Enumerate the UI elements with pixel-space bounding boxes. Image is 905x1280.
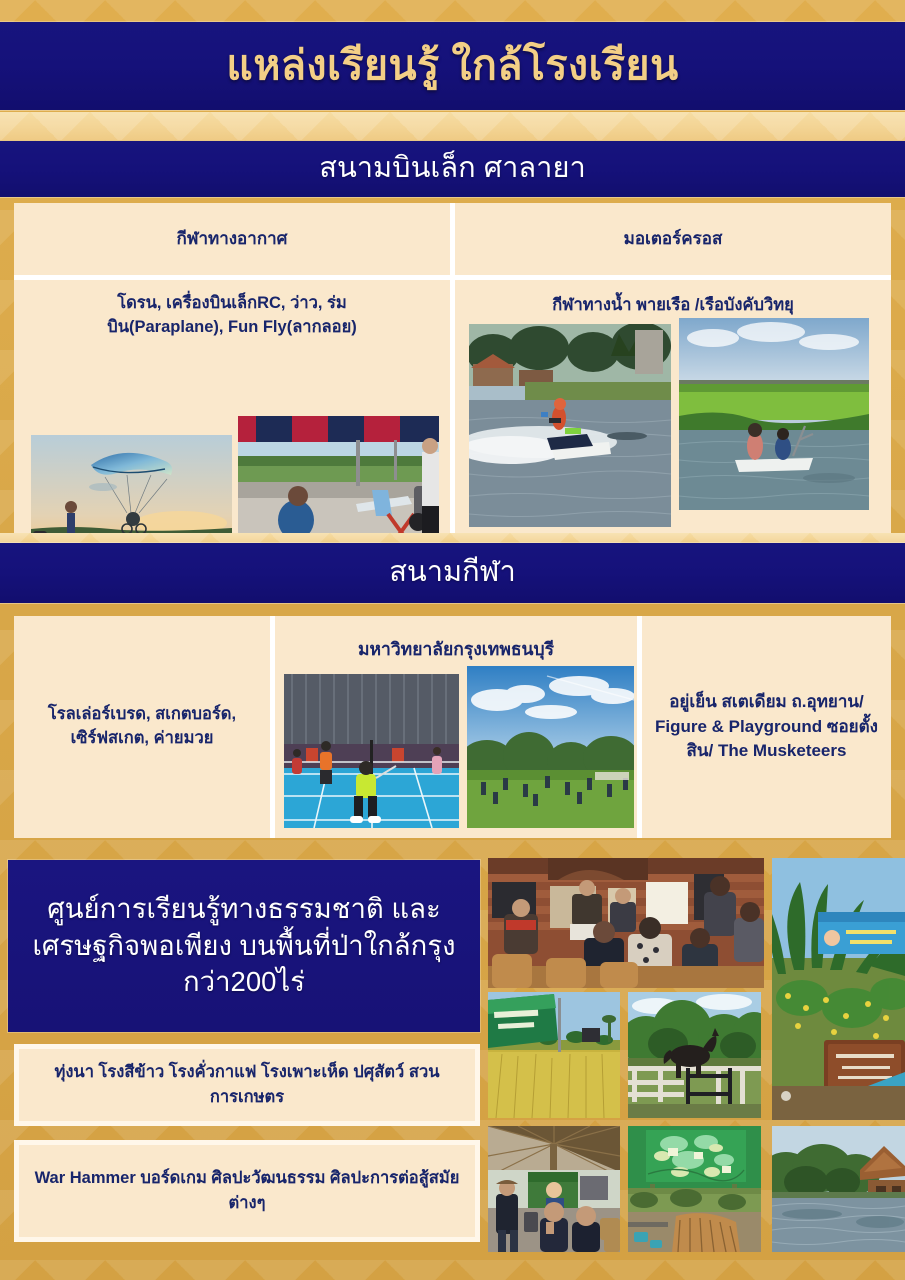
airfield-left-header-label: กีฬาทางอากาศ: [177, 228, 288, 251]
gold-divider-band-2: [0, 533, 905, 543]
poster-root: แหล่งเรียนรู้ ใกล้โรงเรียน สนามบินเล็ก ศ…: [0, 0, 905, 1280]
pavilion-meeting-photo: [488, 1126, 620, 1252]
airfield-card-grid: กีฬาทางอากาศ มอเตอร์ครอส โดรน, เครื่องบิ…: [14, 203, 891, 533]
nature-info-box-1: ทุ่งนา โรงสีข้าว โรงคั่วกาแฟ โรงเพาะเห็ด…: [14, 1044, 480, 1126]
jetski-photo: [469, 324, 671, 527]
sports-mid-cell: มหาวิทยาลัยกรุงเทพธนบุรี: [275, 616, 637, 838]
paddle-boat-photo: [679, 318, 869, 510]
gold-divider-band-1: [0, 112, 905, 140]
section-header-airfield: สนามบินเล็ก ศาลายา: [0, 141, 905, 197]
airfield-right-header-cell: มอเตอร์ครอส: [455, 203, 891, 275]
nature-callout: ศูนย์การเรียนรู้ทางธรรมชาติ และเศรษฐกิจพ…: [8, 860, 480, 1032]
nature-info-box-1-text: ทุ่งนา โรงสีข้าว โรงคั่วกาแฟ โรงเพาะเห็ด…: [33, 1060, 461, 1110]
cafe-workshop-photo: [488, 858, 764, 988]
horse-paddock-photo: [628, 992, 761, 1118]
sports-left-cell: โรลเล่อร์เบรด, สเกตบอร์ด, เซิร์ฟสเกต, ค่…: [14, 616, 270, 838]
section-header-sports: สนามกีฬา: [0, 543, 905, 603]
riverside-hut-photo: [772, 1126, 905, 1252]
nature-callout-text: ศูนย์การเรียนรู้ทางธรรมชาติ และเศรษฐกิจพ…: [18, 891, 470, 1001]
airfield-left-body-cell: โดรน, เครื่องบินเล็กRC, ว่าว, ร่มบิน(Par…: [14, 280, 450, 533]
poster-title-bar: แหล่งเรียนรู้ ใกล้โรงเรียน: [0, 22, 905, 110]
park-map-board-photo: [628, 1126, 761, 1252]
airfield-right-body-cell: กีฬาทางน้ำ พายเรือ /เรือบังคับวิทยุ: [455, 280, 891, 533]
page-title: แหล่งเรียนรู้ ใกล้โรงเรียน: [226, 43, 678, 88]
airfield-left-body-text: โดรน, เครื่องบินเล็กRC, ว่าว, ร่มบิน(Par…: [60, 292, 404, 340]
nature-info-box-2: War Hammer บอร์ดเกม ศิลปะวัฒนธรรม ศิลปะก…: [14, 1140, 480, 1242]
badminton-court-photo: [284, 674, 459, 828]
sports-right-cell: อยู่เย็น สเตเดียม ถ.อุทยาน/ Figure & Pla…: [642, 616, 891, 838]
section-header-sports-label: สนามกีฬา: [389, 557, 516, 589]
sports-right-text: อยู่เย็น สเตเดียม ถ.อุทยาน/ Figure & Pla…: [650, 690, 883, 764]
airfield-right-header-label: มอเตอร์ครอส: [624, 228, 723, 251]
airfield-left-header-cell: กีฬาทางอากาศ: [14, 203, 450, 275]
sports-field-photo: [467, 666, 634, 828]
nature-info-box-2-text: War Hammer บอร์ดเกม ศิลปะวัฒนธรรม ศิลปะก…: [33, 1166, 461, 1216]
rice-field-banner-photo: [488, 992, 620, 1118]
sports-mid-header-label: มหาวิทยาลัยกรุงเทพธนบุรี: [358, 638, 554, 662]
sports-card-grid: โรลเล่อร์เบรด, สเกตบอร์ด, เซิร์ฟสเกต, ค่…: [14, 616, 891, 838]
section-header-airfield-label: สนามบินเล็ก ศาลายา: [319, 153, 585, 185]
airfield-right-body-text: กีฬาทางน้ำ พายเรือ /เรือบังคับวิทยุ: [552, 294, 794, 318]
banana-grove-sign-photo: [772, 858, 905, 1120]
sports-left-text: โรลเล่อร์เบรด, สเกตบอร์ด, เซิร์ฟสเกต, ค่…: [30, 703, 254, 751]
